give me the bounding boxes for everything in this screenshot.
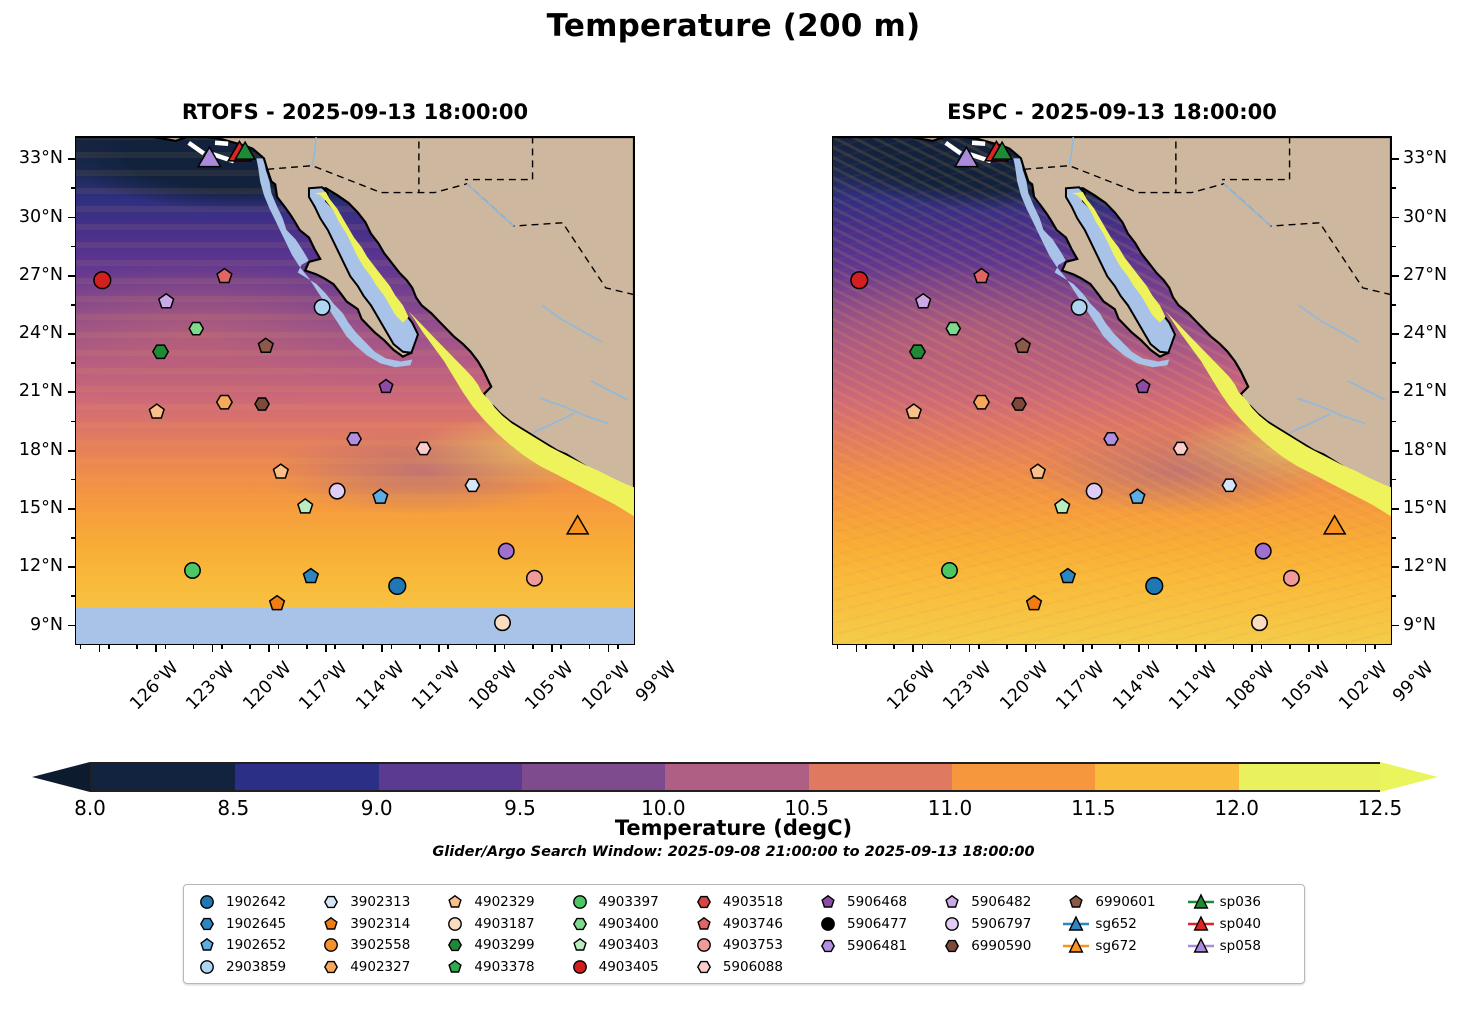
x-tick-minor [1176,645,1178,649]
platform-marker-4902329b[interactable] [273,464,288,478]
legend-item[interactable]: 6990590 [939,936,1063,956]
platform-marker-5906088[interactable] [416,442,430,454]
x-tick-minor [193,645,195,649]
platform-marker-4903403[interactable] [1055,499,1070,513]
x-axis-label: 120°W [239,658,295,714]
map-canvas-rtofs [76,137,634,644]
y-axis-label: 30°N [0,207,63,227]
legend-label: 4903403 [599,937,659,953]
legend-label: 4903299 [474,937,534,953]
legend-item[interactable]: 4903299 [442,936,566,956]
x-axis-label: 123°W [939,658,995,714]
platform-marker-4903753[interactable] [1284,570,1299,585]
y-tick-minor [1392,246,1396,248]
legend-item[interactable]: sp058 [1188,936,1296,956]
x-tick-minor [1119,645,1121,649]
legend-column: 590646859064775906481 [815,892,939,977]
legend-item[interactable]: 3902558 [318,936,442,956]
platform-marker-1902652[interactable] [373,489,388,503]
x-tick-minor [560,645,562,649]
y-tick [1392,566,1399,568]
legend-marker-pentagon-icon [318,915,344,933]
colorbar-extend-high [1380,762,1438,792]
y-tick-minor [71,362,75,364]
legend-item[interactable]: 2903859 [194,957,318,977]
search-window-subtitle: Glider/Argo Search Window: 2025-09-08 21… [0,844,1467,860]
legend-marker-circle-icon [939,915,965,933]
x-tick [99,645,101,652]
legend-marker-triangle-line-icon [1063,915,1089,933]
platform-marker-5906482[interactable] [159,294,174,308]
legend-item[interactable]: 3902314 [318,914,442,934]
platform-marker-4903405[interactable] [94,272,111,289]
legend-label: 3902314 [350,916,410,932]
legend-label: sp036 [1220,894,1261,910]
y-tick-minor [1392,304,1396,306]
y-axis-label: 15°N [1403,498,1447,518]
y-tick [68,508,75,510]
legend-marker-circle-icon [194,893,220,911]
legend-column: 6990601sg652sg672 [1063,892,1187,977]
x-tick [268,645,270,652]
legend-marker-hexagon-icon [318,893,344,911]
y-axis-label: 30°N [1403,207,1447,227]
platform-marker-6990601[interactable] [258,338,273,352]
panel-title-espc: ESPC - 2025-09-13 18:00:00 [832,100,1392,124]
y-tick-minor [71,304,75,306]
x-axis-label: 111°W [409,658,465,714]
platform-marker-4903187[interactable] [1252,615,1267,630]
x-tick [608,645,610,652]
legend-marker-hexagon-icon [442,936,468,954]
platform-marker-5906088[interactable] [1173,442,1187,454]
y-tick [1392,333,1399,335]
platform-marker-4903397[interactable] [185,563,200,578]
legend-marker-triangle-line-icon [1188,915,1214,933]
platform-marker-1902645[interactable] [303,569,318,583]
x-axis-label: 99°W [632,658,680,706]
x-tick [1082,645,1084,652]
figure-title: Temperature (200 m) [0,8,1467,44]
legend-marker-pentagon-icon [442,893,468,911]
platform-marker-5906797[interactable] [1086,483,1101,498]
platform-marker-sp058[interactable] [955,147,978,167]
platform-marker-4903299[interactable] [153,345,168,358]
legend-marker-circle-icon [442,915,468,933]
legend-label: 4903405 [599,959,659,975]
legend-item[interactable]: 5906797 [939,914,1063,934]
legend-marker-hexagon-icon [691,958,717,976]
platform-marker-5906797[interactable] [329,483,344,498]
platform-marker-6990590[interactable] [1012,398,1026,410]
x-tick-minor [108,645,110,649]
x-tick-minor [419,645,421,649]
platform-marker-4903753[interactable] [527,570,542,585]
x-axis-label: 105°W [1279,658,1335,714]
legend-column: 3902313390231439025584902327 [318,892,442,977]
x-tick-minor [950,645,952,649]
y-tick-minor [71,246,75,248]
legend-label: sg672 [1095,938,1136,954]
x-tick-minor [922,645,924,649]
platform-marker-4903405[interactable] [851,272,868,289]
x-axis-label: 105°W [522,658,578,714]
legend-label: 4902329 [474,894,534,910]
y-tick [1392,217,1399,219]
legend-marker-circle-icon [318,936,344,954]
y-tick [68,450,75,452]
platform-marker-4903299[interactable] [910,345,925,358]
x-tick-minor [1148,645,1150,649]
y-tick-minor [71,421,75,423]
y-tick-minor [71,479,75,481]
x-tick-minor [334,645,336,649]
x-tick-minor [306,645,308,649]
x-tick-minor [1317,645,1319,649]
colorbar-segment [235,764,378,790]
platform-marker-4903746[interactable] [974,269,989,283]
x-axis-label: 120°W [996,658,1052,714]
colorbar-segment [1095,764,1238,790]
legend-label: 1902642 [226,894,286,910]
platform-marker-4902329[interactable] [906,404,921,418]
platform-marker-4902327[interactable] [974,395,989,408]
legend-label: sp058 [1220,938,1261,954]
platform-marker-5906477[interactable] [499,543,514,558]
x-axis-label: 123°W [182,658,238,714]
y-axis-label: 33°N [1403,148,1447,168]
x-axis-label: 102°W [1335,658,1391,714]
colorbar-segment [665,764,808,790]
y-tick [68,217,75,219]
legend-label: 4903378 [474,959,534,975]
colorbar-gradient [90,762,1380,792]
legend-marker-circle-icon [567,893,593,911]
y-tick-minor [1392,187,1396,189]
legend-label: sp040 [1220,916,1261,932]
legend-item[interactable]: 5906088 [691,957,815,977]
legend-label: 5906481 [847,938,907,954]
legend-label: 1902652 [226,937,286,953]
platform-marker-6990590[interactable] [255,398,269,410]
platform-marker-4903746[interactable] [217,269,232,283]
legend-marker-circle-icon [567,958,593,976]
legend-marker-circle-icon [691,936,717,954]
legend-item[interactable]: 4902327 [318,957,442,977]
x-tick-minor [504,645,506,649]
platform-marker-sg672[interactable] [1324,516,1345,534]
legend-item[interactable]: 6990601 [1063,892,1187,912]
legend-item[interactable]: 5906477 [815,914,939,934]
platform-marker-1902645[interactable] [1060,569,1075,583]
platform-marker-5906482[interactable] [916,294,931,308]
legend-item[interactable]: sg652 [1063,914,1187,934]
legend-label: 5906468 [847,894,907,910]
y-tick [1392,450,1399,452]
y-tick-minor [71,595,75,597]
x-tick-minor [1261,645,1263,649]
x-axis-label: 114°W [1109,658,1165,714]
legend-label: 4903400 [599,916,659,932]
x-tick-minor [165,645,167,649]
legend-marker-hexagon-icon [691,893,717,911]
legend-label: 2903859 [226,959,286,975]
x-tick [1138,645,1140,652]
y-tick-minor [1392,362,1396,364]
x-tick [381,645,383,652]
y-axis-label: 21°N [0,381,63,401]
platform-marker-6990601[interactable] [1015,338,1030,352]
y-tick [68,391,75,393]
x-tick [1251,645,1253,652]
legend-label: 4903753 [723,937,783,953]
x-tick-minor [865,645,867,649]
legend-marker-triangle-line-icon [1188,937,1214,955]
x-tick [856,645,858,652]
colorbar-extend-low [32,762,90,792]
legend-item[interactable]: 4903400 [567,914,691,934]
legend-item[interactable]: 1902642 [194,892,318,912]
platform-marker-5906481[interactable] [1104,433,1118,445]
legend-label: 4903187 [474,916,534,932]
legend-column: 4903397490340049034034903405 [567,892,691,977]
y-axis-label: 27°N [1403,265,1447,285]
y-tick-minor [71,537,75,539]
x-tick [1308,645,1310,652]
x-tick-minor [136,645,138,649]
y-tick [68,566,75,568]
legend-marker-pentagon-icon [939,893,965,911]
legend-item[interactable]: sp040 [1188,914,1296,934]
y-axis-label: 33°N [0,148,63,168]
x-tick-minor [1346,645,1348,649]
platform-markers[interactable] [833,137,1391,644]
platform-marker-4903400[interactable] [946,322,960,334]
legend-item[interactable]: 3902313 [318,892,442,912]
y-axis-label: 15°N [0,498,63,518]
y-axis-label: 18°N [0,440,63,460]
legend-marker-hexagon-icon [194,915,220,933]
platform-marker-1902642[interactable] [389,578,406,595]
legend-item[interactable]: 4903405 [567,957,691,977]
legend-marker-hexagon-icon [939,937,965,955]
y-tick [68,625,75,627]
platform-marker-3902313[interactable] [1222,479,1236,491]
legend-label: 4903746 [723,916,783,932]
legend-marker-circle-icon [194,958,220,976]
y-tick [1392,625,1399,627]
marker-legend[interactable]: 1902642190264519026522903859390231339023… [183,884,1305,984]
legend-column: 590648259067976990590 [939,892,1063,977]
platform-marker-sp058[interactable] [198,147,221,167]
map-panel-rtofs[interactable] [75,136,635,645]
colorbar-segment [379,764,522,790]
y-tick-minor [71,187,75,189]
legend-item[interactable]: 4903753 [691,936,815,956]
x-tick-minor [1233,645,1235,649]
legend-label: 5906088 [723,959,783,975]
legend-marker-triangle-line-icon [1063,937,1089,955]
y-tick [1392,391,1399,393]
legend-item[interactable]: 5906482 [939,892,1063,912]
x-tick [551,645,553,652]
x-tick [325,645,327,652]
x-tick [969,645,971,652]
y-axis-label: 9°N [0,615,63,635]
legend-marker-pentagon-icon [815,893,841,911]
legend-label: 5906482 [971,894,1031,910]
platform-markers[interactable] [76,137,634,644]
colorbar-segment [1239,764,1382,790]
platform-marker-1902642[interactable] [1146,578,1163,595]
x-tick-minor [978,645,980,649]
x-tick [212,645,214,652]
legend-item[interactable]: 4903187 [442,914,566,934]
x-axis-label: 117°W [1053,658,1109,714]
x-tick [1025,645,1027,652]
x-axis-label: 108°W [465,658,521,714]
legend-column: 4903518490374649037535906088 [691,892,815,977]
legend-item[interactable]: 4903403 [567,936,691,956]
legend-item[interactable]: 4902329 [442,892,566,912]
legend-item[interactable]: 5906481 [815,936,939,956]
platform-marker-3902313[interactable] [465,479,479,491]
y-axis-label: 27°N [0,265,63,285]
x-tick-minor [476,645,478,649]
colorbar-segment [522,764,665,790]
legend-column: 1902642190264519026522903859 [194,892,318,977]
platform-marker-5906481[interactable] [347,433,361,445]
x-axis-label: 102°W [578,658,634,714]
colorbar: 8.08.59.09.510.010.511.011.512.012.5 [18,762,1450,798]
y-tick-minor [1392,537,1396,539]
y-tick-minor [1392,479,1396,481]
legend-label: 4903397 [599,894,659,910]
x-tick-minor [1374,645,1376,649]
legend-label: 4903518 [723,894,783,910]
x-tick-minor [1035,645,1037,649]
x-tick-minor [278,645,280,649]
platform-marker-4903400[interactable] [189,322,203,334]
platform-marker-4902329b[interactable] [1030,464,1045,478]
x-axis-label: 126°W [883,658,939,714]
platform-marker-2903859[interactable] [1071,300,1086,315]
legend-item[interactable]: 4903397 [567,892,691,912]
legend-label: 3902558 [350,937,410,953]
legend-column: 4902329490318749032994903378 [442,892,566,977]
legend-label: 6990590 [971,938,1031,954]
x-tick [912,645,914,652]
x-tick-minor [249,645,251,649]
y-axis-label: 9°N [1403,615,1436,635]
platform-marker-5906468[interactable] [1136,380,1149,393]
colorbar-segment [952,764,1095,790]
legend-marker-pentagon-icon [194,936,220,954]
y-tick [1392,508,1399,510]
legend-item[interactable]: 5906468 [815,892,939,912]
x-tick-minor [362,645,364,649]
x-tick [494,645,496,652]
platform-marker-4903187[interactable] [495,615,510,630]
legend-marker-pentagon-icon [442,958,468,976]
legend-marker-pentagon-icon [1063,893,1089,911]
platform-marker-3902314[interactable] [1027,596,1042,610]
x-axis-label: 126°W [126,658,182,714]
legend-label: 3902313 [350,894,410,910]
x-tick-minor [532,645,534,649]
colorbar-title: Temperature (degC) [0,816,1467,840]
platform-marker-5906477[interactable] [1256,543,1271,558]
y-axis-label: 24°N [1403,323,1447,343]
x-tick-minor [391,645,393,649]
map-panel-espc[interactable] [832,136,1392,645]
legend-label: 4902327 [350,959,410,975]
legend-marker-pentagon-icon [567,936,593,954]
legend-label: 5906797 [971,916,1031,932]
x-axis-label: 114°W [352,658,408,714]
legend-label: sg652 [1095,916,1136,932]
y-axis-label: 21°N [1403,381,1447,401]
x-tick-minor [617,645,619,649]
legend-item[interactable]: sp036 [1188,892,1296,912]
x-axis-label: 108°W [1222,658,1278,714]
platform-marker-4903403[interactable] [298,499,313,513]
legend-label: 5906477 [847,916,907,932]
legend-marker-pentagon-icon [691,915,717,933]
platform-marker-sg672[interactable] [567,516,588,534]
map-canvas-espc [833,137,1391,644]
panel-title-rtofs: RTOFS - 2025-09-13 18:00:00 [75,100,635,124]
platform-marker-5906468[interactable] [379,380,392,393]
y-tick [68,333,75,335]
platform-marker-1902652[interactable] [1130,489,1145,503]
x-tick-minor [893,645,895,649]
x-tick-minor [221,645,223,649]
x-axis-label: 99°W [1389,658,1437,706]
platform-marker-3902314[interactable] [270,596,285,610]
legend-item[interactable]: 4903518 [691,892,815,912]
legend-item[interactable]: 1902645 [194,914,318,934]
x-tick-minor [1006,645,1008,649]
legend-item[interactable]: 1902652 [194,936,318,956]
x-axis-label: 117°W [296,658,352,714]
legend-item[interactable]: 4903378 [442,957,566,977]
legend-item[interactable]: 4903746 [691,914,815,934]
x-tick [155,645,157,652]
x-tick-minor [837,645,839,649]
legend-label: 1902645 [226,916,286,932]
x-tick-minor [80,645,82,649]
x-tick [1365,645,1367,652]
platform-marker-4902329[interactable] [149,404,164,418]
platform-marker-4902327[interactable] [217,395,232,408]
colorbar-segment [92,764,235,790]
platform-marker-2903859[interactable] [314,300,329,315]
legend-marker-hexagon-icon [318,958,344,976]
x-tick [438,645,440,652]
y-tick-minor [1392,595,1396,597]
y-axis-label: 12°N [0,556,63,576]
x-tick-minor [1091,645,1093,649]
legend-item[interactable]: sg672 [1063,936,1187,956]
platform-marker-4903397[interactable] [942,563,957,578]
legend-marker-circle-icon [815,915,841,933]
colorbar-segment [809,764,952,790]
y-axis-label: 24°N [0,323,63,343]
legend-marker-hexagon-icon [815,937,841,955]
x-tick-minor [589,645,591,649]
x-tick [1195,645,1197,652]
